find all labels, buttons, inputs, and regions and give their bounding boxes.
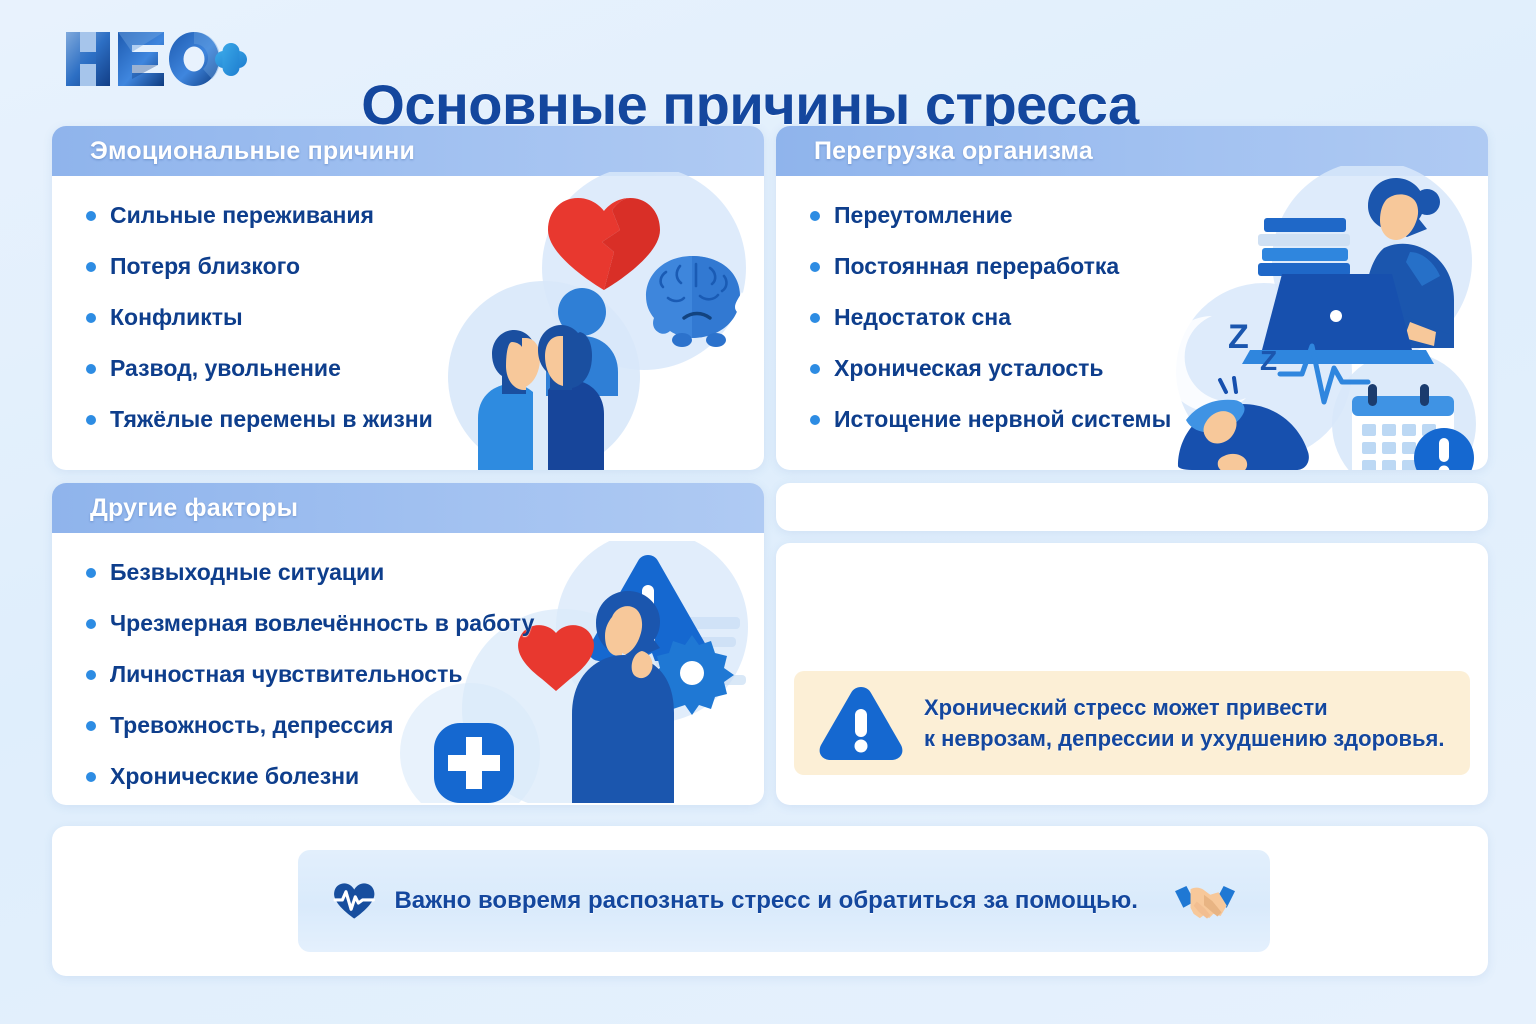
list-item-label: Сильные переживания bbox=[110, 202, 374, 229]
bullet-dot bbox=[810, 364, 820, 374]
list-item-label: Постоянная переработка bbox=[834, 253, 1119, 280]
card-other-body: Безвыходные ситуации Чрезмерная вовлечён… bbox=[52, 533, 764, 805]
list-item: Постоянная переработка bbox=[810, 253, 1488, 280]
list-item-label: Хронические болезни bbox=[110, 763, 359, 790]
panel-footer: Важно вовремя распознать стресс и обрати… bbox=[52, 826, 1488, 976]
bullet-dot bbox=[810, 211, 820, 221]
bullet-dot bbox=[810, 313, 820, 323]
list-item: Личностная чувствительность bbox=[86, 661, 764, 688]
list-item: Тревожность, депрессия bbox=[86, 712, 764, 739]
card-overload-header: Перегрузка организма bbox=[776, 126, 1488, 176]
card-body-overload: Перегрузка организма bbox=[776, 126, 1488, 470]
card-emotional-body: Сильные переживания Потеря близкого Конф… bbox=[52, 176, 764, 470]
card-emotional-title: Эмоциональные причини bbox=[90, 137, 415, 166]
bullet-dot bbox=[86, 211, 96, 221]
list-item: Хронические болезни bbox=[86, 763, 764, 790]
list-item: Недостаток сна bbox=[810, 304, 1488, 331]
warning-line-1: Хронический стресс может привести bbox=[924, 692, 1444, 723]
list-item-label: Недостаток сна bbox=[834, 304, 1011, 331]
neo-plus-logo bbox=[60, 24, 250, 94]
infographic-page: Основные причины стресса Эмоциональные п… bbox=[0, 0, 1536, 1024]
bullet-dot bbox=[86, 415, 96, 425]
list-item: Истощение нервной системы bbox=[810, 406, 1488, 433]
list-item: Хроническая усталость bbox=[810, 355, 1488, 382]
list-item-label: Конфликты bbox=[110, 304, 243, 331]
panel-spacer bbox=[776, 483, 1488, 531]
warning-triangle-icon bbox=[818, 685, 904, 761]
list-item-label: Переутомление bbox=[834, 202, 1013, 229]
list-item: Сильные переживания bbox=[86, 202, 764, 229]
list-item: Чрезмерная вовлечённость в работу bbox=[86, 610, 764, 637]
bullet-dot bbox=[86, 670, 96, 680]
bullet-dot bbox=[86, 772, 96, 782]
bullet-dot bbox=[86, 568, 96, 578]
bullet-dot bbox=[86, 364, 96, 374]
handshake-icon bbox=[1174, 858, 1236, 944]
bullet-dot bbox=[810, 262, 820, 272]
card-overload-body: Z Z bbox=[776, 176, 1488, 470]
warning-text: Хронический стресс может привести к невр… bbox=[924, 692, 1444, 754]
list-item-label: Истощение нервной системы bbox=[834, 406, 1171, 433]
bullet-dot bbox=[810, 415, 820, 425]
list-item: Переутомление bbox=[810, 202, 1488, 229]
list-item: Безвыходные ситуации bbox=[86, 559, 764, 586]
list-item-label: Потеря близкого bbox=[110, 253, 300, 280]
card-other-header: Другие факторы bbox=[52, 483, 764, 533]
other-factors-list: Безвыходные ситуации Чрезмерная вовлечён… bbox=[52, 533, 764, 790]
list-item-label: Тяжёлые перемены в жизни bbox=[110, 406, 433, 433]
list-item-label: Тревожность, депрессия bbox=[110, 712, 393, 739]
bullet-dot bbox=[86, 619, 96, 629]
list-item: Развод, увольнение bbox=[86, 355, 764, 382]
card-other-factors: Другие факторы bbox=[52, 483, 764, 805]
footer-banner: Важно вовремя распознать стресс и обрати… bbox=[298, 850, 1270, 952]
card-overload-title: Перегрузка организма bbox=[814, 137, 1093, 166]
bullet-dot bbox=[86, 721, 96, 731]
list-item: Потеря близкого bbox=[86, 253, 764, 280]
card-emotional-header: Эмоциональные причини bbox=[52, 126, 764, 176]
list-item: Тяжёлые перемены в жизни bbox=[86, 406, 764, 433]
warning-callout: Хронический стресс может привести к невр… bbox=[794, 671, 1470, 775]
panel-chronic-stress-warning: Хронический стресс может привести к невр… bbox=[776, 543, 1488, 805]
list-item-label: Личностная чувствительность bbox=[110, 661, 463, 688]
card-emotional-causes: Эмоциональные причини bbox=[52, 126, 764, 470]
warning-line-2: к неврозам, депрессии и ухудшению здоров… bbox=[924, 723, 1444, 754]
heartbeat-heart-icon bbox=[332, 863, 376, 939]
emotional-list: Сильные переживания Потеря близкого Конф… bbox=[52, 176, 764, 433]
list-item-label: Безвыходные ситуации bbox=[110, 559, 384, 586]
list-item-label: Развод, увольнение bbox=[110, 355, 341, 382]
bullet-dot bbox=[86, 313, 96, 323]
card-other-title: Другие факторы bbox=[90, 494, 298, 523]
list-item: Конфликты bbox=[86, 304, 764, 331]
overload-list: Переутомление Постоянная переработка Нед… bbox=[776, 176, 1488, 433]
bullet-dot bbox=[86, 262, 96, 272]
list-item-label: Чрезмерная вовлечённость в работу bbox=[110, 610, 534, 637]
footer-text: Важно вовремя распознать стресс и обрати… bbox=[394, 887, 1137, 915]
list-item-label: Хроническая усталость bbox=[834, 355, 1104, 382]
